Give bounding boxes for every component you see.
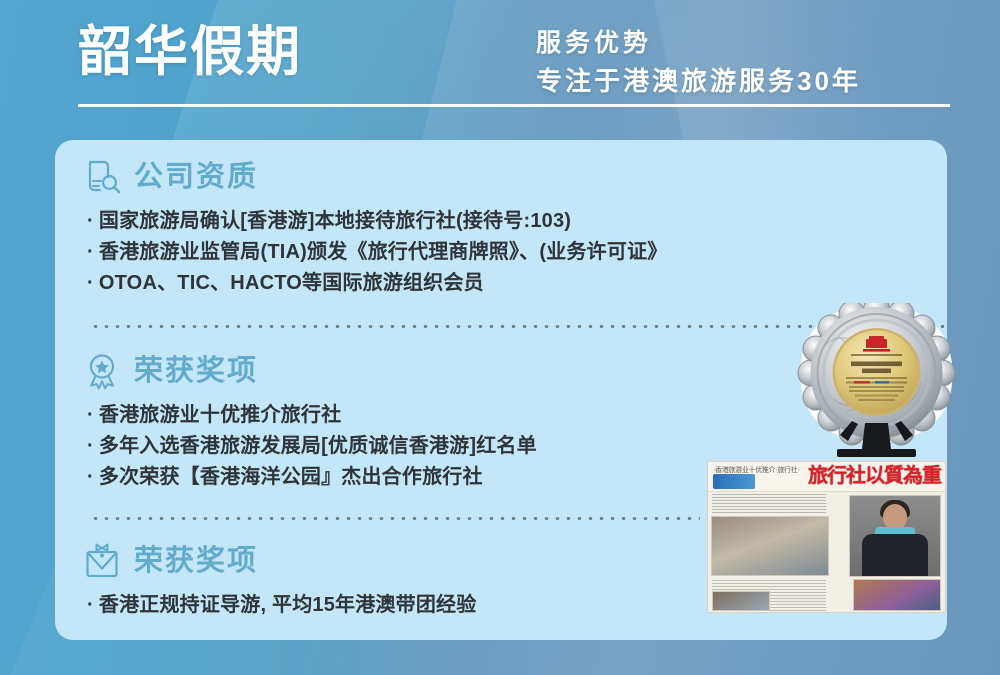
- document-search-icon: [82, 157, 122, 197]
- tour-guide-icon: [82, 541, 122, 581]
- section-company-qualification: 公司资质 ·国家旅游局确认[香港游]本地接待旅行社(接待号:103) ·香港旅游…: [55, 154, 947, 299]
- promo-poster: 韶华假期 服务优势 专注于港澳旅游服务30年 公司资质 ·国家: [0, 0, 1000, 675]
- newspaper-headline: 旅行社以質為重: [808, 463, 941, 489]
- brand-title: 韶华假期: [78, 20, 302, 84]
- section-header: 公司资质: [82, 154, 947, 200]
- bullet-marker: ·: [87, 206, 94, 237]
- tagline-block: 服务优势 专注于港澳旅游服务30年: [536, 26, 861, 99]
- bullet-marker: ·: [87, 400, 94, 431]
- newspaper-sub-headline: 旅行社: [808, 465, 865, 487]
- bullet-list: ·国家旅游局确认[香港游]本地接待旅行社(接待号:103) ·香港旅游业监管局(…: [87, 206, 947, 299]
- tagline-line-1: 服务优势: [536, 26, 861, 60]
- newspaper-thumbnail: [853, 579, 941, 611]
- section-divider: [90, 517, 700, 520]
- portrait-body: [862, 534, 928, 577]
- list-item-text: 香港正规持证导游, 平均15年港澳带团经验: [99, 594, 477, 616]
- list-item-text: 香港旅游业十优推介旅行社: [99, 404, 341, 426]
- award-plaque-photo: [795, 303, 958, 465]
- bullet-marker: ·: [87, 462, 94, 493]
- award-medal-icon: [82, 351, 122, 391]
- poster-header: 韶华假期 服务优势 专注于港澳旅游服务30年: [0, 0, 1000, 128]
- bullet-marker: ·: [87, 431, 94, 462]
- list-item: ·香港旅游业监管局(TIA)颁发《旅行代理商牌照》、(业务许可证》: [87, 237, 947, 268]
- bullet-marker: ·: [87, 590, 94, 621]
- bullet-marker: ·: [87, 237, 94, 268]
- newspaper-main-headline: 以質為重: [865, 465, 941, 487]
- newspaper-event-photo: [711, 516, 829, 576]
- list-item-text: 多次荣获【香港海洋公园』杰出合作旅行社: [99, 466, 483, 488]
- newspaper-clipping-photo: ·香港旅游业十优推介·旅行社· 旅行社以質為重: [707, 461, 946, 613]
- list-item-text: 国家旅游局确认[香港游]本地接待旅行社(接待号:103): [99, 210, 571, 232]
- section-title: 荣获奖项: [134, 351, 258, 391]
- list-item-text: OTOA、TIC、HACTO等国际旅游组织会员: [99, 272, 484, 294]
- list-item: ·国家旅游局确认[香港游]本地接待旅行社(接待号:103): [87, 206, 947, 237]
- list-item: ·OTOA、TIC、HACTO等国际旅游组织会员: [87, 268, 947, 299]
- section-title: 荣获奖项: [134, 541, 258, 581]
- newspaper-masthead: ·香港旅游业十优推介·旅行社· 旅行社以質為重: [708, 462, 945, 492]
- header-divider-rule: [78, 104, 950, 107]
- newspaper-text-block: [712, 494, 826, 513]
- newspaper-body: [708, 492, 945, 613]
- newspaper-portrait-photo: [849, 495, 941, 577]
- list-item-text: 多年入选香港旅游发展局[优质诚信香港游]红名单: [99, 435, 537, 457]
- newspaper-thumbnail: [712, 591, 770, 611]
- bullet-marker: ·: [87, 268, 94, 299]
- newspaper-logo: [713, 474, 755, 489]
- section-title: 公司资质: [134, 157, 258, 197]
- list-item-text: 香港旅游业监管局(TIA)颁发《旅行代理商牌照》、(业务许可证》: [99, 241, 668, 263]
- tagline-line-2: 专注于港澳旅游服务30年: [536, 63, 861, 99]
